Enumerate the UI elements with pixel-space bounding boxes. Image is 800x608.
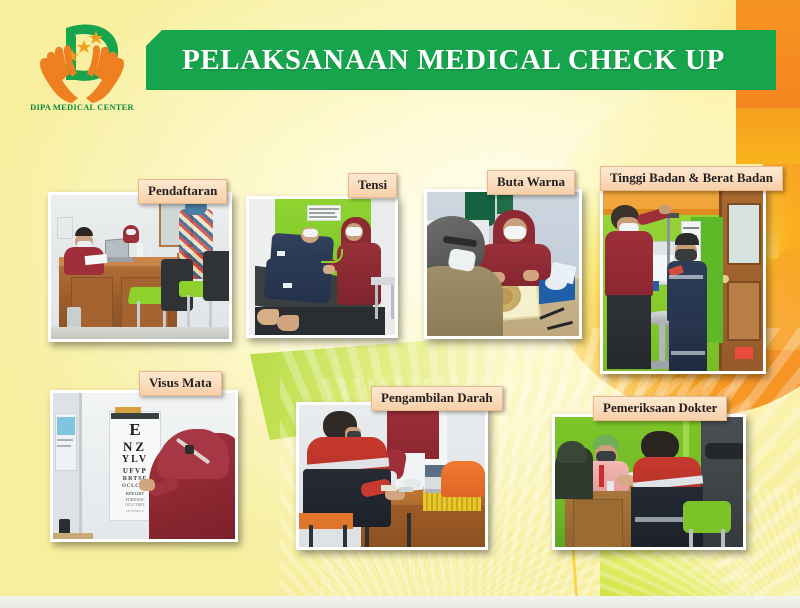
caption-tinggi-berat-badan: Tinggi Badan & Berat Badan <box>600 166 783 191</box>
photo-pendaftaran[interactable] <box>48 192 232 342</box>
slide-bottom-strip <box>0 596 800 608</box>
caption-pengambilan-darah: Pengambilan Darah <box>371 386 503 411</box>
slide-canvas: DIPA MEDICAL CENTER PELAKSANAAN MEDICAL … <box>0 0 800 608</box>
photo-visus-mata[interactable]: E NZ YLV UFVP RRTSF OCLCTB RPEGRT TURESO… <box>50 390 238 542</box>
logo-text: DIPA MEDICAL CENTER <box>24 102 140 112</box>
page-title: PELAKSANAAN MEDICAL CHECK UP <box>182 44 725 77</box>
photo-buta-warna[interactable] <box>424 189 582 339</box>
orange-block-top-right-lower <box>736 108 800 164</box>
photo-pemeriksaan-dokter[interactable] <box>552 414 746 550</box>
photo-pengambilan-darah[interactable] <box>296 402 488 550</box>
title-banner: PELAKSANAAN MEDICAL CHECK UP <box>146 30 776 90</box>
logo-dipa-medical-center: DIPA MEDICAL CENTER <box>24 14 140 118</box>
caption-pemeriksaan-dokter: Pemeriksaan Dokter <box>593 396 727 421</box>
caption-buta-warna: Buta Warna <box>487 170 575 195</box>
caption-visus-mata: Visus Mata <box>139 371 222 396</box>
caption-tensi: Tensi <box>348 173 397 198</box>
photo-tinggi-berat-badan[interactable] <box>600 186 766 374</box>
caption-pendaftaran: Pendaftaran <box>138 179 227 204</box>
photo-tensi[interactable] <box>246 196 398 338</box>
